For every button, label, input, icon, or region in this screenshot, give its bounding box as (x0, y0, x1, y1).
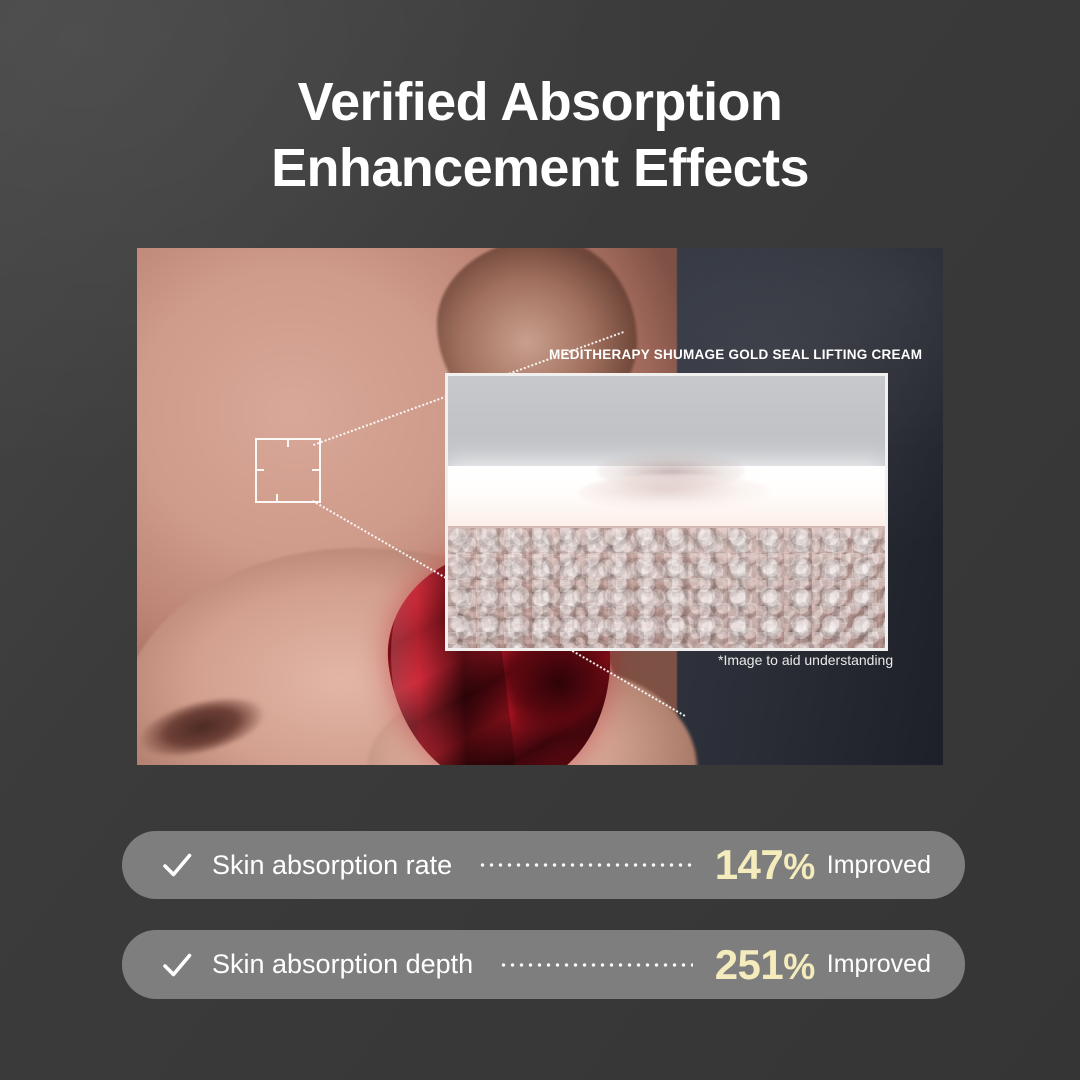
product-caption: MEDITHERAPY SHUMAGE GOLD SEAL LIFTING CR… (549, 347, 922, 362)
result-value: 251% (715, 941, 815, 989)
hero-image: MEDITHERAPY SHUMAGE GOLD SEAL LIFTING CR… (137, 248, 943, 765)
inset-cream-spread (579, 474, 771, 512)
skin-cross-section-inset (445, 373, 888, 651)
page-title-line-1: Verified Absorption (0, 70, 1080, 136)
result-row: Skin absorption depth 251% Improved (122, 930, 965, 999)
result-row: Skin absorption rate 147% Improved (122, 831, 965, 899)
check-icon (160, 848, 194, 882)
result-value: 147% (715, 841, 815, 889)
percent-symbol: % (783, 846, 815, 887)
result-label: Skin absorption rate (212, 850, 452, 881)
percent-symbol: % (783, 946, 815, 987)
result-suffix: Improved (827, 851, 931, 880)
hero-footnote: *Image to aid understanding (718, 652, 893, 668)
result-label: Skin absorption depth (212, 949, 473, 980)
result-suffix: Improved (827, 950, 931, 979)
result-number: 251 (715, 941, 784, 988)
focus-rectangle-icon (255, 438, 321, 503)
result-number: 147 (715, 841, 784, 888)
dotted-leader (478, 863, 693, 867)
page-title: Verified Absorption Enhancement Effects (0, 70, 1080, 202)
dotted-leader (499, 963, 693, 967)
page-title-line-2: Enhancement Effects (0, 136, 1080, 202)
inset-skin-cells (448, 528, 885, 648)
check-icon (160, 948, 194, 982)
